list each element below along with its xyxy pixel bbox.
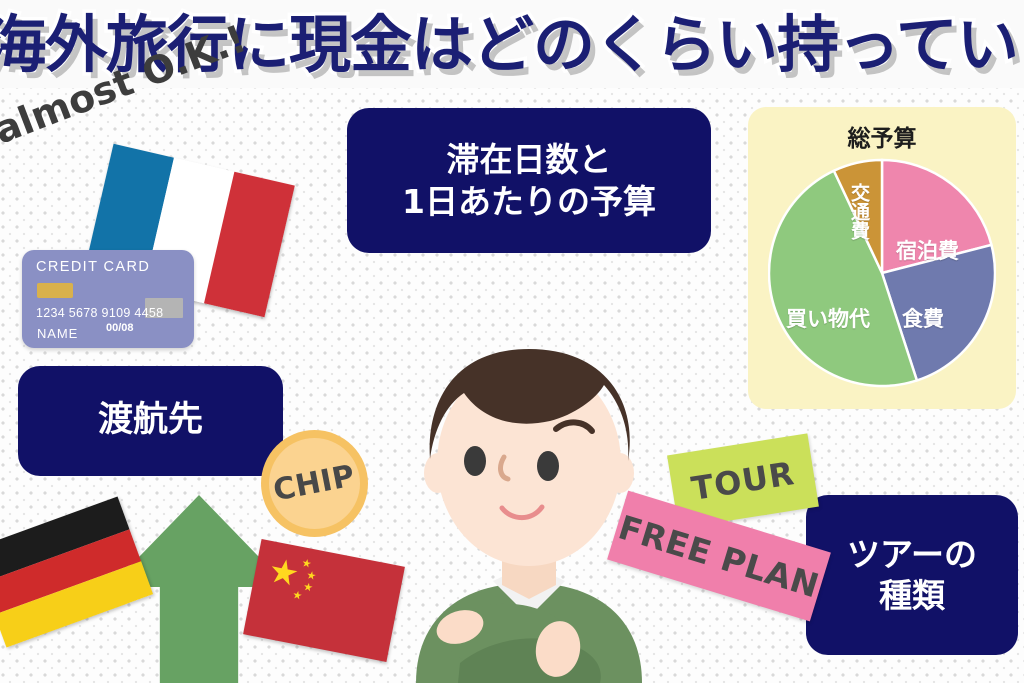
- credit-card-expiry: 00/08: [106, 322, 134, 334]
- flag-china-icon: ★ ★ ★ ★ ★: [243, 539, 405, 662]
- pie-slices: [769, 160, 995, 386]
- boy-ear-right: [606, 453, 634, 493]
- budget-pie-panel: 総予算 宿泊費 食費 買い物代 交通費: [748, 107, 1016, 409]
- boy-eye-left: [464, 446, 486, 476]
- chip-coin-icon: CHIP: [261, 430, 368, 537]
- credit-card-name: NAME: [37, 326, 78, 341]
- box-stay-days-budget[interactable]: 滞在日数と 1日あたりの予算: [347, 108, 711, 253]
- credit-card-chip-icon: [37, 283, 73, 298]
- boy-character-illustration: [398, 333, 660, 683]
- box-tour-type[interactable]: ツアーの 種類: [806, 495, 1018, 655]
- chart-title: 総予算: [748, 119, 1016, 153]
- boy-ear-left: [424, 453, 452, 493]
- flag-china-star-small-4: ★: [291, 590, 303, 603]
- pie-chart-svg: [768, 157, 996, 389]
- credit-card-number: 1234 5678 9109 4458: [36, 306, 163, 320]
- flag-china-star-small-3: ★: [302, 582, 314, 595]
- pie-chart: 宿泊費 食費 買い物代 交通費: [768, 157, 996, 389]
- infographic-canvas: 海外旅行に現金はどのくらい持っていく? 総予算 宿泊費 食費 買い物代 交通費 …: [0, 0, 1024, 683]
- flag-china-star-large: ★: [266, 553, 302, 592]
- chip-coin-label: CHIP: [271, 458, 358, 508]
- credit-card-label: CREDIT CARD: [36, 259, 150, 275]
- box-destination[interactable]: 渡航先: [18, 366, 283, 476]
- boy-eye-right: [537, 451, 559, 481]
- credit-card-icon: CREDIT CARD 1234 5678 9109 4458 00/08 NA…: [22, 250, 194, 348]
- flag-germany-icon: [0, 496, 153, 647]
